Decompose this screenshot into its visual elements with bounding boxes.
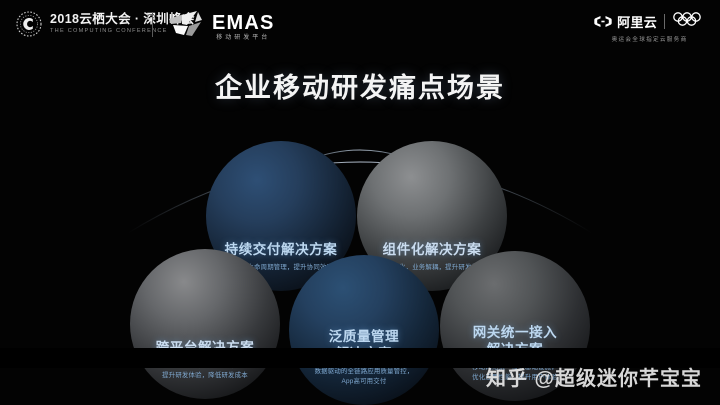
emas-brand: EMAS 移动研发平台: [168, 10, 275, 43]
bubble-subtitle: 数据驱动的全链路应用质量管控， App高可用交付: [315, 367, 414, 387]
page-title: 企业移动研发痛点场景: [0, 66, 720, 105]
aliyun-brand: 阿里云 奥运会全球指定云服务商: [593, 12, 706, 43]
aliyun-logo-icon: 阿里云: [593, 12, 657, 31]
header-divider: [152, 12, 153, 37]
emas-paper-plane-logo-icon: [168, 10, 208, 43]
aliyun-divider: [664, 14, 665, 29]
yunqi-conference-mark-icon: [16, 11, 42, 37]
watermark: 知乎 @超级迷你芊宝宝: [486, 362, 702, 391]
slide-header: 2018云栖大会 · 深圳峰会 THE COMPUTING CONFERENCE…: [0, 0, 720, 52]
aliyun-name: 阿里云: [617, 12, 657, 31]
olympic-rings-icon: [672, 12, 706, 31]
emas-subtitle: 移动研发平台: [212, 35, 275, 41]
slide-root: 2018云栖大会 · 深圳峰会 THE COMPUTING CONFERENCE…: [0, 0, 720, 405]
emas-name: EMAS: [212, 13, 275, 33]
aliyun-tagline: 奥运会全球指定云服务商: [612, 35, 688, 43]
bubble-quality-management[interactable]: 泛质量管理 解决方案 数据驱动的全链路应用质量管控， App高可用交付: [289, 255, 439, 405]
bubble-title: 持续交付解决方案: [225, 241, 338, 258]
emas-text: EMAS 移动研发平台: [212, 13, 275, 41]
aliyun-brand-row: 阿里云: [593, 12, 706, 31]
bubble-title: 组件化解决方案: [383, 241, 482, 258]
bubble-cross-platform[interactable]: 跨平台解决方案 一套代码，三端适用， 提升研发体验，降低研发成本: [130, 249, 280, 399]
bubble-diagram: 持续交付解决方案 App全生命周期管理，提升协同效率 组件化解决方案 架构优化，…: [0, 105, 720, 355]
